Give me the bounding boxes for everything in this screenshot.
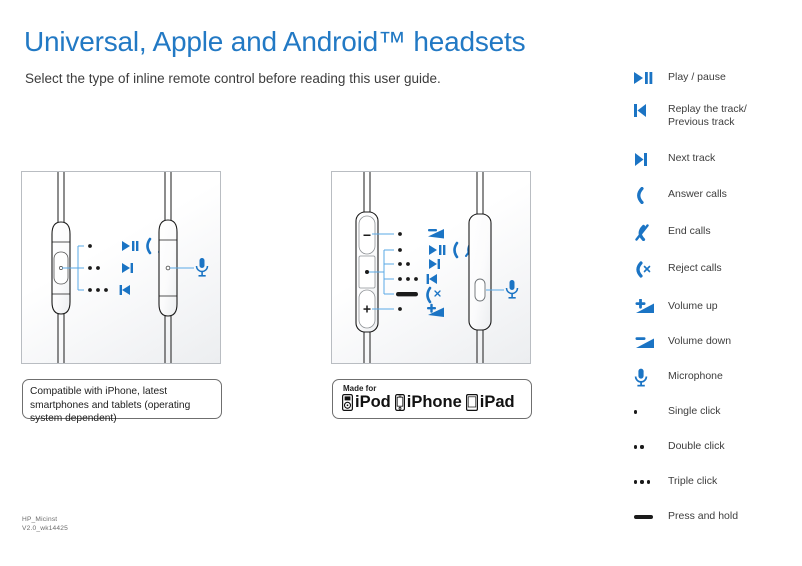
footer-line-1: HP_Micinst bbox=[22, 516, 68, 525]
legend-item-press-and-hold: Press and hold bbox=[630, 509, 798, 539]
legend-label: Volume down bbox=[668, 334, 731, 348]
legend-label: Press and hold bbox=[668, 509, 738, 523]
ipod-icon bbox=[342, 394, 353, 411]
legend-item-volume-up: Volume up bbox=[630, 299, 798, 334]
legend-label: Microphone bbox=[668, 369, 723, 383]
made-for-iphone: iPhone bbox=[395, 394, 462, 411]
made-for-ipod: iPod bbox=[342, 394, 391, 411]
reject-call-icon bbox=[630, 261, 668, 277]
legend-list: Play / pause Replay the track/ Previous … bbox=[630, 70, 798, 539]
microphone-icon bbox=[507, 280, 518, 299]
made-for-label: Made for bbox=[343, 384, 522, 393]
iphone-label: iPhone bbox=[407, 394, 462, 411]
legend-item-reject-calls: Reject calls bbox=[630, 261, 798, 299]
legend-item-next-track: Next track bbox=[630, 151, 798, 187]
legend-item-end-calls: End calls bbox=[630, 224, 798, 261]
legend-item-microphone: Microphone bbox=[630, 369, 798, 404]
microphone-icon bbox=[197, 258, 208, 277]
made-for-ipad: iPad bbox=[466, 394, 515, 411]
apple-headset-diagram bbox=[331, 171, 531, 364]
iphone-icon bbox=[395, 394, 405, 411]
legend-label: Volume up bbox=[668, 299, 718, 313]
legend-item-volume-down: Volume down bbox=[630, 334, 798, 369]
ipad-label: iPad bbox=[480, 394, 515, 411]
ipad-icon bbox=[466, 394, 478, 411]
page-title: Universal, Apple and Android™ headsets bbox=[24, 26, 525, 58]
end-call-icon bbox=[630, 224, 668, 240]
legend-item-play-pause: Play / pause bbox=[630, 70, 798, 102]
left-click-dots bbox=[88, 244, 108, 292]
legend-item-triple-click: Triple click bbox=[630, 474, 798, 509]
next-track-icon bbox=[630, 151, 668, 167]
previous-track-icon bbox=[630, 102, 668, 118]
legend-label: Double click bbox=[668, 439, 725, 453]
play-pause-icon bbox=[630, 70, 668, 86]
document-footer: HP_Micinst V2.0_wk14425 bbox=[22, 516, 68, 533]
legend-item-previous-track: Replay the track/ Previous track bbox=[630, 102, 798, 151]
volume-down-icon bbox=[630, 334, 668, 350]
legend-label: Next track bbox=[668, 151, 715, 165]
universal-headset-diagram bbox=[21, 171, 221, 364]
legend-label: Single click bbox=[668, 404, 721, 418]
legend-item-single-click: Single click bbox=[630, 404, 798, 439]
made-for-apple-badge: Made for iPod iPhone bbox=[332, 379, 532, 419]
made-for-device-row: iPod iPhone iPad bbox=[342, 394, 522, 411]
microphone-icon bbox=[630, 369, 668, 385]
legend-item-answer-calls: Answer calls bbox=[630, 187, 798, 224]
legend-label: Play / pause bbox=[668, 70, 726, 84]
page-subtitle: Select the type of inline remote control… bbox=[25, 71, 441, 86]
right-remote-body bbox=[469, 214, 491, 330]
footer-line-2: V2.0_wk14425 bbox=[22, 525, 68, 534]
triple-click-icon bbox=[630, 474, 668, 490]
legend-label: Triple click bbox=[668, 474, 717, 488]
legend-item-double-click: Double click bbox=[630, 439, 798, 474]
double-click-icon bbox=[630, 439, 668, 455]
universal-caption-text: Compatible with iPhone, latest smartphon… bbox=[30, 385, 214, 426]
document-page: Universal, Apple and Android™ headsets S… bbox=[0, 0, 802, 566]
legend-label: End calls bbox=[668, 224, 711, 238]
legend-label: Reject calls bbox=[668, 261, 722, 275]
legend-label: Answer calls bbox=[668, 187, 727, 201]
answer-call-icon bbox=[630, 187, 668, 203]
universal-caption-box: Compatible with iPhone, latest smartphon… bbox=[22, 379, 222, 419]
apple-click-dots bbox=[396, 232, 418, 311]
press-hold-icon bbox=[630, 509, 668, 525]
volume-up-icon bbox=[630, 299, 668, 315]
single-click-icon bbox=[630, 404, 668, 420]
ipod-label: iPod bbox=[355, 394, 391, 411]
legend-label: Replay the track/ Previous track bbox=[668, 102, 747, 129]
